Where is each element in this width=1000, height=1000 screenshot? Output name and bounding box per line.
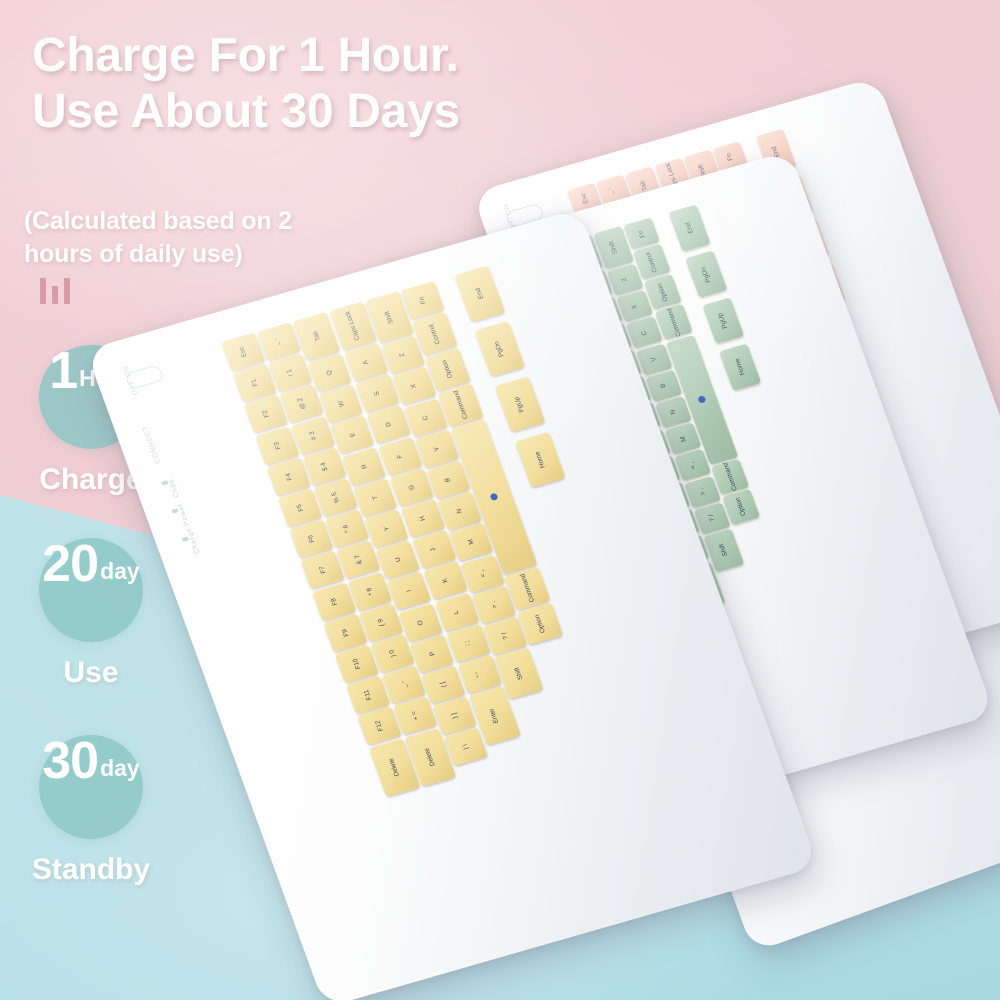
key-label: @ 2 [296, 397, 307, 410]
key-label: F6 [307, 534, 316, 543]
key-label: End [684, 222, 695, 235]
key-label: { [ [439, 681, 448, 688]
key-label: < , [688, 461, 697, 470]
bluetooth-icon-green [697, 395, 706, 404]
key-label: } ] [451, 712, 460, 719]
key-label: $ 4 [320, 461, 330, 471]
key-label: Q [326, 369, 334, 376]
key-label: N [669, 409, 677, 415]
key-label: G [407, 484, 415, 491]
key-label: D [384, 422, 392, 428]
key-label: Fn [725, 152, 734, 161]
key-label: > . [698, 487, 707, 496]
promo-image: EscF1F2F3F4F5F6F7F8F9F10F11F12Delete~ `!… [0, 0, 1000, 1000]
key-label: Fn [637, 229, 646, 238]
headline-line-2: Use About 30 Days [32, 84, 592, 140]
key-label: H [418, 515, 426, 521]
key-label: F11 [363, 689, 373, 701]
badge-standby-number: 30 [42, 735, 98, 787]
key-label: E [349, 432, 357, 438]
key-label: Fn [418, 296, 427, 305]
key-label: S [373, 391, 381, 397]
key-label: K [441, 578, 449, 584]
key-label: ^ 6 [342, 524, 352, 534]
key-label: PgUp [514, 396, 526, 413]
key-label: End [474, 287, 485, 300]
key-label: Option [656, 282, 669, 302]
key-label: Command [665, 307, 682, 337]
key-label: W [337, 400, 346, 408]
key-label: Control [645, 251, 659, 273]
headline-line-1: Charge For 1 Hour. [32, 29, 459, 82]
key-label: ! 1 [286, 368, 295, 377]
key-label: F3 [273, 441, 282, 450]
key-label: + = [410, 711, 420, 722]
badge-use-caption: Use [0, 656, 191, 690]
key-end-yellow[interactable]: End [454, 266, 505, 322]
key-label: Option [534, 614, 547, 634]
badge-standby-caption: Standby [0, 853, 191, 887]
key-label: % 5 [331, 491, 342, 503]
key-label: Option [441, 359, 454, 379]
key-label: Caps Lock [344, 311, 361, 342]
key-label: Delete [388, 758, 401, 778]
key-label: ( 9 [377, 618, 386, 627]
key-label: ) 0 [388, 649, 397, 658]
key-label: ? / [500, 631, 509, 640]
key-label: U [394, 557, 402, 563]
key-label: Shift [513, 666, 524, 680]
key-pgdn-green[interactable]: PgDn [685, 251, 727, 298]
key-pgup-yellow[interactable]: PgUp [494, 376, 545, 432]
badge-use-unit: day [100, 560, 140, 583]
key-label: V [433, 446, 441, 452]
key-label: X [631, 303, 639, 309]
key-label: Home [734, 358, 747, 376]
subtitle: (Calculated based on 2 hours of daily us… [24, 205, 354, 271]
key-label: F9 [341, 628, 350, 637]
key-label: F10 [352, 658, 363, 670]
key-label: C [421, 414, 429, 420]
key-label: PgDn [493, 341, 505, 358]
key-label: PgDn [700, 266, 712, 283]
key-label: V [650, 356, 658, 362]
key-label: > . [489, 600, 498, 609]
key-label: F [396, 453, 404, 459]
key-label: Esc [579, 192, 589, 204]
key-label: F2 [261, 410, 270, 419]
key-label: X [410, 383, 418, 389]
key-label: Z [621, 277, 629, 283]
key-home-green[interactable]: Home [719, 344, 761, 391]
key-label: < , [478, 569, 487, 578]
key-label: F5 [295, 503, 304, 512]
key-end-green[interactable]: End [668, 204, 710, 251]
badge-use-disc: 20 day [39, 538, 143, 642]
key-label: Command [721, 462, 738, 492]
key-label: R [360, 463, 368, 469]
bluetooth-icon-yellow [489, 492, 498, 501]
badge-standby: 30 day Standby [0, 735, 191, 887]
key-label: * 8 [365, 586, 374, 595]
key-label: ~ ` [609, 186, 618, 195]
badge-use-number: 20 [42, 538, 98, 590]
led-label-caps-yellow: Caps [168, 478, 181, 498]
key-label: ~ ` [274, 337, 283, 346]
key-label: | \ [462, 744, 471, 751]
key-label: : ; [464, 640, 473, 647]
page-title: Charge For 1 Hour. Use About 30 Days [32, 28, 592, 140]
led-label-charge-yellow: Charge [185, 527, 201, 555]
key-label: P [428, 650, 436, 656]
key-label: I [406, 589, 413, 593]
key-label: " ' [475, 671, 484, 678]
badge-charge-number: 1 [49, 345, 77, 397]
key-label: Tab [639, 180, 649, 192]
key-label: _ - [399, 680, 408, 689]
key-label: Tab [312, 330, 322, 342]
key-label: T [371, 495, 379, 501]
key-pgup-green[interactable]: PgUp [702, 297, 744, 344]
led-label-power-yellow: Power [176, 502, 191, 526]
key-label: C [640, 330, 648, 336]
key-label: Esc [238, 346, 248, 358]
key-label: M [467, 539, 476, 546]
key-label: PgUp [717, 312, 729, 329]
key-label: F12 [374, 720, 385, 732]
key-label: Control [428, 323, 442, 345]
key-label: B [660, 383, 668, 389]
key-pgdn-yellow[interactable]: PgDn [474, 321, 525, 377]
key-label: F1 [250, 378, 259, 387]
connect-label-yellow: CONNECT [142, 424, 163, 464]
key-label: Command [519, 573, 536, 603]
key-home-yellow[interactable]: Home [515, 432, 566, 488]
key-label: F7 [318, 566, 327, 575]
key-label: Shift [608, 241, 619, 255]
key-label: F8 [329, 597, 338, 606]
key-label: Delete [424, 748, 437, 768]
badge-standby-disc: 30 day [39, 735, 143, 839]
key-label: Shift [383, 310, 394, 324]
key-label: O [417, 619, 425, 626]
key-label: N [455, 508, 463, 514]
key-label: Option [734, 497, 747, 517]
key-label: L [453, 609, 461, 614]
key-label: & 7 [354, 554, 364, 565]
key-label: A [362, 359, 370, 365]
key-label: # 3 [308, 430, 318, 440]
accent-bars-decoration [40, 278, 70, 304]
key-label: J [430, 547, 438, 552]
key-label: F4 [284, 472, 293, 481]
key-label: Enter [488, 707, 500, 724]
key-label: Shift [718, 543, 729, 557]
key-label: Home [534, 451, 547, 469]
badge-standby-unit: day [100, 757, 140, 780]
key-label: B [444, 477, 452, 483]
key-label: Command [452, 390, 469, 420]
key-label: ? / [707, 514, 716, 523]
key-label: Y [383, 526, 391, 532]
key-label: M [679, 435, 688, 442]
key-label: Z [399, 352, 407, 358]
